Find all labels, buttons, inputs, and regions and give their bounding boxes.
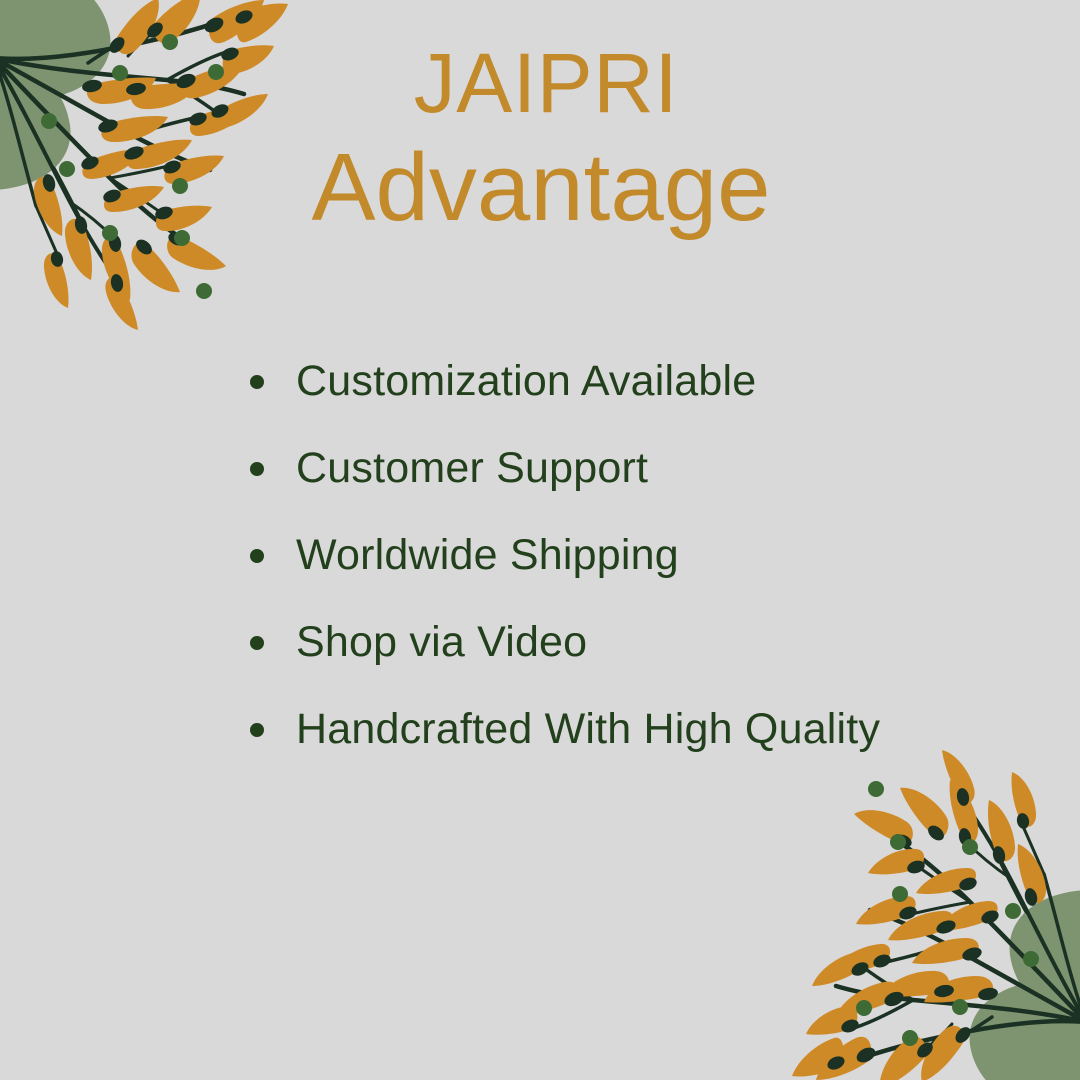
stem-tips <box>825 787 1039 1072</box>
bullet-icon <box>250 375 264 389</box>
branch-stems <box>836 800 1080 1066</box>
floral-branch-bottom-right <box>758 740 1080 1080</box>
headline-text: Advantage <box>2 135 1080 241</box>
bullet-icon <box>250 636 264 650</box>
feature-label: Customer Support <box>296 444 648 493</box>
sage-leaf-group <box>970 890 1080 1080</box>
brand-name: JAIPRI <box>12 38 1080 129</box>
feature-list: Customization Available Customer Support… <box>250 338 1010 773</box>
page-title: JAIPRI Advantage <box>0 38 1080 240</box>
feature-label: Worldwide Shipping <box>296 531 679 580</box>
list-item: Customer Support <box>250 425 1010 512</box>
golden-petals <box>792 750 1046 1080</box>
feature-label: Handcrafted With High Quality <box>296 705 880 754</box>
poster-canvas: JAIPRI Advantage Customization Available… <box>0 0 1080 1080</box>
list-item: Shop via Video <box>250 599 1010 686</box>
list-item: Worldwide Shipping <box>250 512 1010 599</box>
list-item: Customization Available <box>250 338 1010 425</box>
bullet-icon <box>250 723 264 737</box>
green-dots <box>856 781 1039 1046</box>
feature-label: Shop via Video <box>296 618 587 667</box>
list-item: Handcrafted With High Quality <box>250 686 1010 773</box>
bullet-icon <box>250 462 264 476</box>
feature-label: Customization Available <box>296 357 756 406</box>
bullet-icon <box>250 549 264 563</box>
